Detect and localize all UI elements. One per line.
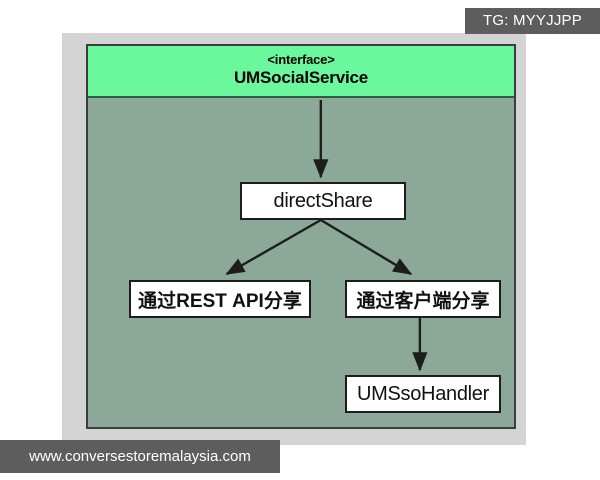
node-direct-share[interactable]: directShare <box>240 182 406 220</box>
uml-class-header: <interface> UMSocialService <box>88 46 514 98</box>
uml-class-box: <interface> UMSocialService <box>86 44 516 429</box>
node-rest-api-share-part-prefix: 通过REST <box>138 291 232 312</box>
node-umsso-handler-label: UMSsoHandler <box>357 383 489 406</box>
site-watermark-bar: www.conversestoremalaysia.com <box>0 440 280 473</box>
node-client-share[interactable]: 通过客户端分享 <box>345 280 501 318</box>
edge-directshare-to-restshare <box>227 220 321 274</box>
node-client-share-label: 通过客户端分享 <box>356 286 489 313</box>
node-rest-api-share-part-api: API <box>232 291 264 312</box>
node-direct-share-label: directShare <box>274 190 373 213</box>
uml-class-body: directShare 通过REST API分享 通过客户端分享 UMSsoHa… <box>88 98 514 427</box>
tg-watermark-badge: TG: MYYJJPP <box>465 8 600 34</box>
diagram-frame: <interface> UMSocialService <box>62 33 526 445</box>
edge-directshare-to-clientshare <box>321 220 411 274</box>
node-rest-api-share-part-suffix: 分享 <box>264 291 302 312</box>
uml-class-name-label: UMSocialService <box>88 67 514 89</box>
uml-stereotype-label: <interface> <box>88 46 514 67</box>
node-rest-api-share[interactable]: 通过REST API分享 <box>129 280 311 318</box>
node-umsso-handler[interactable]: UMSsoHandler <box>345 375 501 413</box>
node-rest-api-share-label: 通过REST API分享 <box>138 286 302 313</box>
